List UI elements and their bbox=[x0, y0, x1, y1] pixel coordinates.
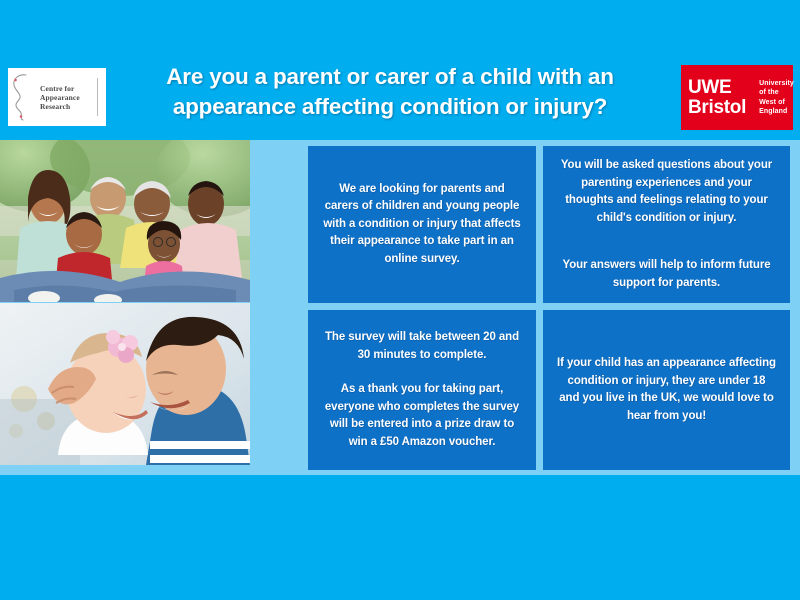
face-profile-outline-icon bbox=[8, 71, 38, 123]
father-and-baby-photo bbox=[0, 303, 250, 465]
poster-header: Centre for Appearance Research Are you a… bbox=[0, 60, 800, 140]
uwe-subtitle-line-3: West of bbox=[759, 98, 794, 108]
centre-for-appearance-research-logo: Centre for Appearance Research bbox=[8, 68, 106, 126]
car-logo-line-1: Centre for bbox=[40, 84, 80, 93]
uwe-wordmark: UWE Bristol bbox=[681, 78, 746, 118]
father-baby-photo-illustration bbox=[0, 303, 250, 465]
uwe-bristol-logo: UWE Bristol University of the West of En… bbox=[681, 65, 793, 130]
family-photo-illustration bbox=[0, 140, 250, 302]
box-looking-for: We are looking for parents and carers of… bbox=[308, 146, 536, 303]
poster-body: We are looking for parents and carers of… bbox=[0, 140, 790, 475]
box-duration-and-prize: The survey will take between 20 and 30 m… bbox=[308, 310, 536, 470]
car-logo-wordmark: Centre for Appearance Research bbox=[38, 84, 80, 111]
page-title-line-2: appearance affecting condition or injury… bbox=[112, 92, 668, 122]
box-duration-paragraph-1: The survey will take between 20 and 30 m… bbox=[308, 329, 536, 364]
box-what-asked-paragraph-1: You will be asked questions about your p… bbox=[543, 157, 790, 227]
page-title-line-1: Are you a parent or carer of a child wit… bbox=[112, 62, 668, 92]
uwe-wordmark-line-1: UWE bbox=[688, 78, 746, 98]
box-eligibility-paragraph-1: If your child has an appearance affectin… bbox=[543, 355, 790, 425]
box-prize-paragraph-2: As a thank you for taking part, everyone… bbox=[308, 381, 536, 451]
box-what-asked: You will be asked questions about your p… bbox=[543, 146, 790, 303]
uwe-subtitle-line-2: of the bbox=[759, 88, 794, 98]
car-logo-divider bbox=[97, 78, 98, 116]
right-edge-strip bbox=[790, 140, 800, 475]
multigenerational-family-photo bbox=[0, 140, 250, 302]
box-looking-for-paragraph-1: We are looking for parents and carers of… bbox=[308, 181, 536, 269]
uwe-wordmark-line-2: Bristol bbox=[688, 98, 746, 118]
car-logo-line-2: Appearance bbox=[40, 93, 80, 102]
car-logo-line-3: Research bbox=[40, 102, 80, 111]
box-what-asked-paragraph-2: Your answers will help to inform future … bbox=[543, 257, 790, 292]
poster-canvas: Centre for Appearance Research Are you a… bbox=[0, 0, 800, 600]
uwe-subtitle-line-4: England bbox=[759, 107, 794, 117]
box-eligibility: If your child has an appearance affectin… bbox=[543, 310, 790, 470]
page-title: Are you a parent or carer of a child wit… bbox=[112, 62, 668, 122]
uwe-subtitle-line-1: University bbox=[759, 79, 794, 89]
uwe-logo-subtitle: University of the West of England bbox=[759, 79, 794, 117]
